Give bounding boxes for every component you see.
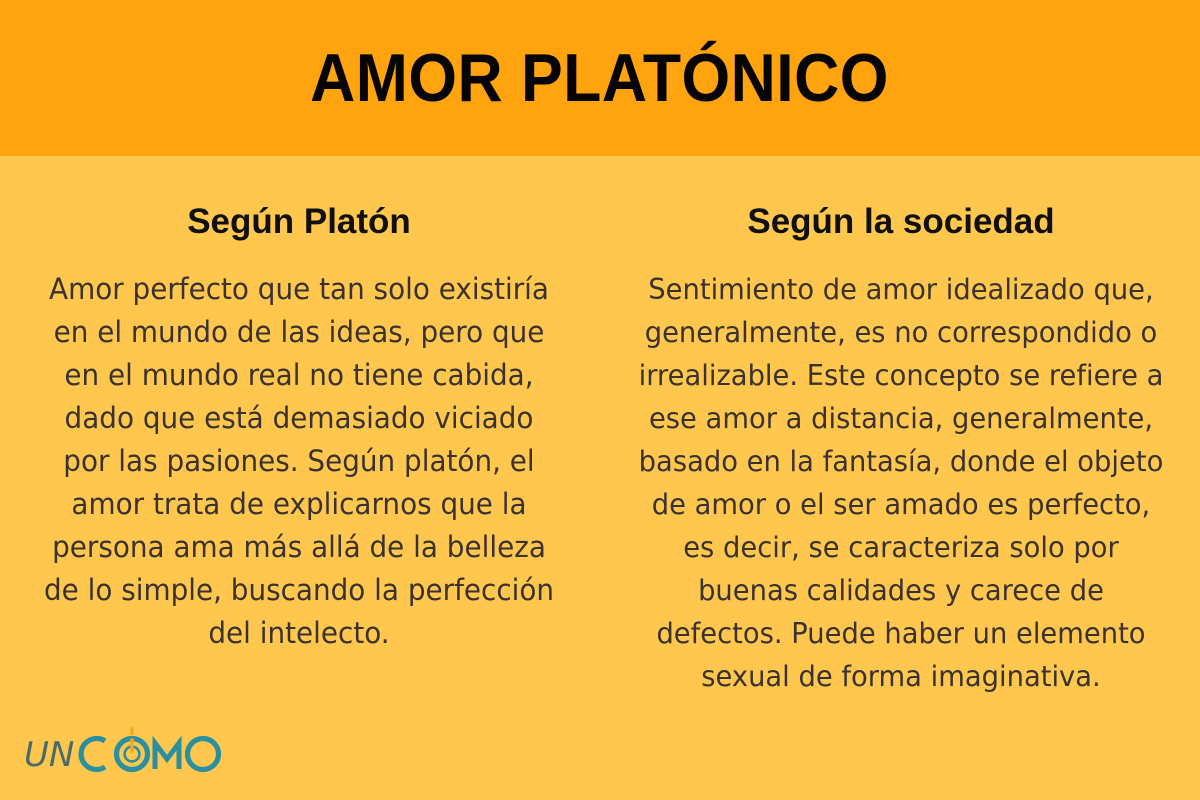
- column-body-segun-platon: Amor perfecto que tan solo existiría en …: [44, 242, 555, 655]
- page-title: AMOR PLATÓNICO: [311, 44, 890, 112]
- column-segun-platon: Según Platón Amor perfecto que tan solo …: [0, 156, 600, 655]
- header-band: AMOR PLATÓNICO: [0, 0, 1200, 156]
- column-body-segun-la-sociedad: Sentimiento de amor idealizado que, gene…: [633, 242, 1169, 698]
- infographic-root: AMOR PLATÓNICO Según Platón Amor perfect…: [0, 0, 1200, 800]
- uncomo-logo[interactable]: UN: [22, 728, 222, 774]
- column-heading-segun-la-sociedad: Según la sociedad: [747, 156, 1054, 242]
- uncomo-logo-icon: UN: [22, 725, 222, 777]
- comparison-columns: Según Platón Amor perfecto que tan solo …: [0, 156, 1200, 716]
- svg-text:UN: UN: [24, 735, 74, 775]
- column-segun-la-sociedad: Según la sociedad Sentimiento de amor id…: [600, 156, 1200, 698]
- column-heading-segun-platon: Según Platón: [187, 156, 411, 242]
